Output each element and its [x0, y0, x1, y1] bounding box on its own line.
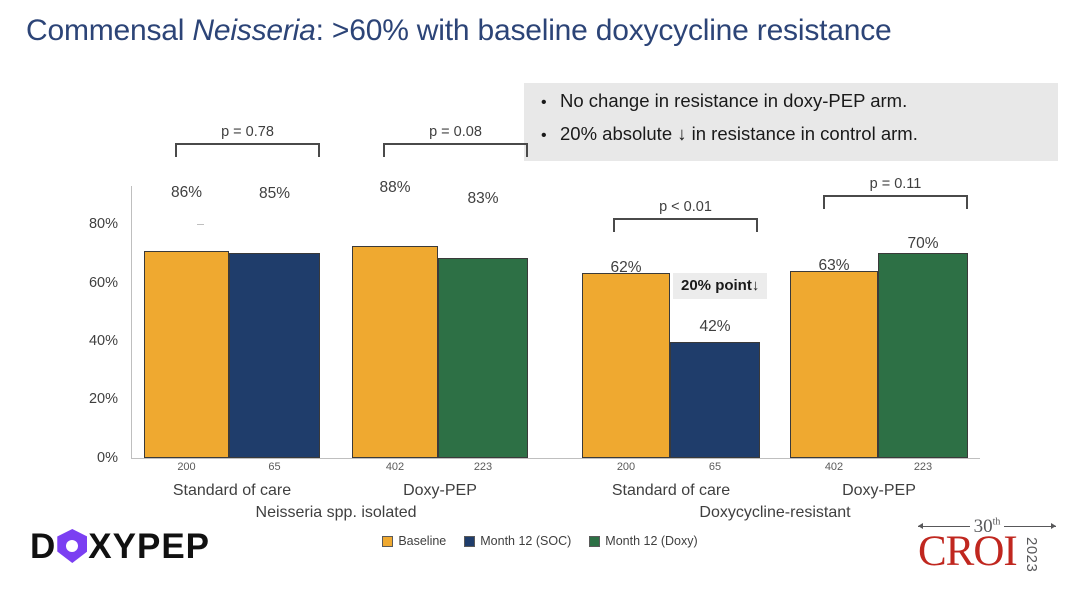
- p-value-label-2: p = 0.08: [383, 124, 528, 140]
- legend-item-month12-soc[interactable]: Month 12 (SOC): [464, 534, 571, 548]
- bar-n-label: 200: [144, 461, 229, 473]
- bar-n-label: 200: [582, 461, 670, 473]
- legend-label: Baseline: [398, 534, 446, 548]
- bar-baseline-soc-resistant[interactable]: [582, 273, 670, 458]
- bar-month12doxy-doxypep-isolated[interactable]: [438, 258, 528, 458]
- croi-arrow-left-icon: [918, 526, 970, 527]
- bar-n-label: 402: [352, 461, 438, 473]
- doxypep-logo-text-rest: XYPEP: [88, 529, 210, 564]
- group-label-soc-isolated: Standard of care: [144, 482, 320, 500]
- group-label-doxypep-isolated: Doxy-PEP: [352, 482, 528, 500]
- y-tick-label: 20%: [72, 391, 118, 407]
- slide: Commensal Neisseria: >60% with baseline …: [0, 0, 1080, 605]
- bar-n-label: 223: [878, 461, 968, 473]
- doxypep-logo-letter-d: D: [30, 529, 56, 564]
- annotation-20-point-drop: 20% point↓: [673, 273, 767, 299]
- croi-name: CROI: [918, 530, 1017, 573]
- y-tick-label: 0%: [72, 450, 118, 466]
- panel-label-resistant: Doxycycline-resistant: [582, 504, 968, 522]
- bar-month12soc-soc-resistant[interactable]: [670, 342, 760, 458]
- legend-swatch-icon: [382, 536, 393, 547]
- legend-item-baseline[interactable]: Baseline: [382, 534, 446, 548]
- doxypep-shield-icon: [57, 529, 87, 563]
- croi-arrow-right-icon: [1004, 526, 1056, 527]
- bar-n-label: 65: [229, 461, 320, 473]
- p-bracket-4: [823, 195, 968, 209]
- legend-item-month12-doxy[interactable]: Month 12 (Doxy): [589, 534, 697, 548]
- bar-n-label: 402: [790, 461, 878, 473]
- y-tick-label: 80%: [72, 216, 118, 232]
- p-bracket-1: [175, 143, 320, 157]
- bar-value-label: 85%: [229, 185, 320, 203]
- croi-year: 2023: [1023, 537, 1040, 572]
- p-bracket-3: [613, 218, 758, 232]
- legend-swatch-icon: [464, 536, 475, 547]
- bar-value-label: 62%: [582, 259, 670, 277]
- bar-month12doxy-doxypep-resistant[interactable]: [878, 253, 968, 458]
- p-bracket-2: [383, 143, 528, 157]
- bar-value-label: 86%: [144, 184, 229, 202]
- y-axis-line: [131, 186, 132, 459]
- p-value-label-3: p < 0.01: [613, 199, 758, 215]
- y-tick-label: 60%: [72, 275, 118, 291]
- bar-baseline-soc-isolated[interactable]: [144, 251, 229, 458]
- bar-n-label: 223: [438, 461, 528, 473]
- y-tick-label: 40%: [72, 333, 118, 349]
- bar-month12soc-soc-isolated[interactable]: [229, 253, 320, 458]
- croi-logo: 30th CROI 2023: [918, 515, 1068, 585]
- bar-value-label: 88%: [352, 179, 438, 197]
- p-value-label-1: p = 0.78: [175, 124, 320, 140]
- legend-label: Month 12 (SOC): [480, 534, 571, 548]
- bar-n-label: 65: [670, 461, 760, 473]
- bar-value-label: 63%: [790, 257, 878, 275]
- doxypep-logo: D XYPEP: [30, 527, 210, 565]
- bar-baseline-doxypep-isolated[interactable]: [352, 246, 438, 458]
- panel-label-isolated: Neisseria spp. isolated: [144, 504, 528, 522]
- group-label-doxypep-resistant: Doxy-PEP: [790, 482, 968, 500]
- x-axis-line: [131, 458, 980, 459]
- p-value-label-4: p = 0.11: [823, 176, 968, 192]
- group-label-soc-resistant: Standard of care: [582, 482, 760, 500]
- legend-label: Month 12 (Doxy): [605, 534, 697, 548]
- bar-value-label: 70%: [878, 235, 968, 253]
- bar-baseline-doxypep-resistant[interactable]: [790, 271, 878, 458]
- bar-value-label: 83%: [438, 190, 528, 208]
- bar-value-label: 42%: [670, 318, 760, 336]
- legend-swatch-icon: [589, 536, 600, 547]
